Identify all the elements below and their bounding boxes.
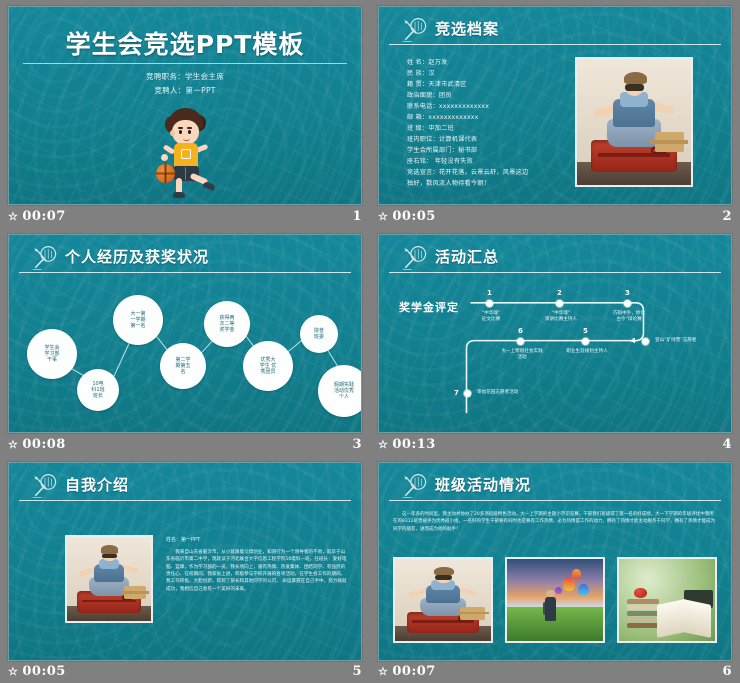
timeline-node xyxy=(486,300,493,307)
star-icon: ☆ xyxy=(8,439,18,450)
experience-bubble-label: 10电 科1班 班长 xyxy=(91,381,104,400)
timeline-node-number: 3 xyxy=(625,289,630,297)
intro-body: 我来自山东省临沂市，从小就跟着父母创业，知道行为一个领导者的不易，就毕于山东省临… xyxy=(166,549,347,593)
slide-cell-3[interactable]: 个人经历及获奖状况 学生会 学习部 干事10电 科1班 班长大一第 一学期 第一… xyxy=(0,228,370,456)
page-title: 活动汇总 xyxy=(435,246,499,267)
page-title: 竞选档案 xyxy=(435,18,499,39)
timeline-node xyxy=(517,338,524,345)
slide-number: 2 xyxy=(722,209,732,224)
experience-bubble-label: 院普 班委 xyxy=(314,328,324,341)
experience-bubble: 大一第 一学期 第一名 xyxy=(113,295,163,345)
timeline-node xyxy=(582,338,589,345)
timeline-node-number: 4 xyxy=(631,337,636,345)
class-activity-body: 这一年多的时间里，我主动并协办了20多项班级特色活动。大一上学期的主题小学识竞赛… xyxy=(393,511,717,533)
timeline-node-label: 大一上寒假社会实践 活动 xyxy=(482,349,562,361)
slide-duration: 00:08 xyxy=(22,437,65,452)
activity-timeline: 奖学金评定 1“中华魂” 征文比赛2“中华魂” 演讲比赛主持人3巧辩中外，妙论 … xyxy=(379,277,731,412)
magnifier-pen-icon xyxy=(31,473,59,499)
experience-bubble: 学生会 学习部 干事 xyxy=(27,329,77,379)
experience-bubble: 优秀大 学生 优 秀团员 xyxy=(243,341,293,391)
experience-bubble: 获得两 次二等 奖学金 xyxy=(204,301,250,347)
star-icon: ☆ xyxy=(378,439,388,450)
timeline-node-number: 6 xyxy=(518,327,523,335)
slide-footer-2: ☆ 00:05 2 xyxy=(378,206,732,226)
timeline-node-label: 巧辩中外，妙论 古今“辩论赛 xyxy=(593,311,665,323)
experience-bubble: 第二学 期第五 名 xyxy=(160,343,206,389)
slide-cell-6[interactable]: 班级活动情况 这一年多的时间里，我主动并协办了20多项班级特色活动。大一上学期的… xyxy=(370,456,740,683)
slide-preview-grid: 学生会竞选PPT模板 竞聘职务：学生会主席 竞聘人：第一PPT ☆ xyxy=(0,0,740,683)
title-divider xyxy=(23,63,347,64)
title-divider xyxy=(19,500,351,501)
slide-footer-6: ☆ 00:07 6 xyxy=(378,661,732,681)
timeline-node xyxy=(464,390,471,397)
timeline-node-number: 1 xyxy=(487,289,492,297)
slide-number: 6 xyxy=(722,664,732,679)
magnifier-pen-icon xyxy=(401,473,429,499)
page-title: 班级活动情况 xyxy=(435,474,531,495)
slide-number: 3 xyxy=(352,437,362,452)
star-icon: ☆ xyxy=(378,211,388,222)
girl-suitcase-photo xyxy=(393,557,493,643)
cover-subtitle-line-2: 竞聘人：第一PPT xyxy=(9,84,361,98)
girl-suitcase-photo xyxy=(575,57,693,187)
slide-3-experience[interactable]: 个人经历及获奖状况 学生会 学习部 干事10电 科1班 班长大一第 一学期 第一… xyxy=(8,234,362,433)
timeline-node-number: 7 xyxy=(454,389,459,397)
cover-subtitle: 竞聘职务：学生会主席 竞聘人：第一PPT xyxy=(9,70,361,98)
title-divider xyxy=(389,272,721,273)
timeline-node-label: 登山“矿绿营”志愿者 xyxy=(655,338,731,344)
timeline-node xyxy=(624,300,631,307)
girl-suitcase-photo xyxy=(65,535,153,623)
slide-number: 4 xyxy=(722,437,732,452)
experience-bubble: 院普 班委 xyxy=(300,315,338,353)
timeline-node-label: “中华魂” 征文比赛 xyxy=(461,311,521,323)
slide-duration: 00:05 xyxy=(392,209,435,224)
magnifier-pen-icon xyxy=(401,17,429,43)
self-intro-block: 姓名：第一PPT 我来自山东省临沂市，从小就跟着父母创业，知道行为一个领导者的不… xyxy=(166,536,347,593)
page-title: 自我介绍 xyxy=(65,474,129,495)
profile-details: 姓 名：赵万发 民 族：汉 籍 贯：天津市武清区 政治面貌：团员 联系电话：xx… xyxy=(407,57,528,189)
star-icon: ☆ xyxy=(378,666,388,677)
slide-footer-4: ☆ 00:13 4 xyxy=(378,434,732,454)
experience-bubble-chain: 学生会 学习部 干事10电 科1班 班长大一第 一学期 第一名第二学 期第五 名… xyxy=(15,277,355,412)
intro-name-line: 姓名：第一PPT xyxy=(166,536,347,544)
page-title: 学生会竞选PPT模板 xyxy=(9,25,361,61)
slide-footer-3: ☆ 00:08 3 xyxy=(8,434,362,454)
title-divider xyxy=(389,500,721,501)
slide-number: 1 xyxy=(352,209,362,224)
page-title: 个人经历及获奖状况 xyxy=(65,246,209,267)
experience-bubble-label: 假期实践 活动优秀 个人 xyxy=(334,382,354,401)
slide-duration: 00:05 xyxy=(22,664,65,679)
experience-bubble-label: 获得两 次二等 奖学金 xyxy=(219,315,234,334)
experience-bubble-label: 大一第 一学期 第一名 xyxy=(130,311,145,330)
slide-2-profile[interactable]: 竞选档案 姓 名：赵万发 民 族：汉 籍 贯：天津市武清区 政治面貌：团员 联系… xyxy=(378,6,732,205)
title-divider xyxy=(389,44,721,45)
slide-1-cover[interactable]: 学生会竞选PPT模板 竞聘职务：学生会主席 竞聘人：第一PPT xyxy=(8,6,362,205)
cover-subtitle-line-1: 竞聘职务：学生会主席 xyxy=(9,70,361,84)
timeline-node-number: 5 xyxy=(583,327,588,335)
timeline-node-label: 幸福花园志愿者活动 xyxy=(477,390,553,396)
slide-footer-5: ☆ 00:05 5 xyxy=(8,661,362,681)
title-divider xyxy=(19,272,351,273)
slide-4-activity-summary[interactable]: 活动汇总 奖学金评定 1“中华魂” 征文比赛2“中华魂” 演讲比赛主持人3巧辩中… xyxy=(378,234,732,433)
star-icon: ☆ xyxy=(8,211,18,222)
star-icon: ☆ xyxy=(8,666,18,677)
timeline-node-number: 2 xyxy=(557,289,562,297)
timeline-node-label: “中华魂” 演讲比赛主持人 xyxy=(525,311,597,323)
basketball-boy-illustration xyxy=(143,102,227,198)
timeline-node xyxy=(642,338,649,345)
slide-cell-2[interactable]: 竞选档案 姓 名：赵万发 民 族：汉 籍 贯：天津市武清区 政治面貌：团员 联系… xyxy=(370,0,740,228)
magnifier-pen-icon xyxy=(31,245,59,271)
slide-cell-5[interactable]: 自我介绍 姓名：第一PPT 我来自山东省临沂市，从小就跟着父母创业，知道行为一个… xyxy=(0,456,370,683)
timeline-path xyxy=(379,277,731,413)
slide-6-class-activities[interactable]: 班级活动情况 这一年多的时间里，我主动并协办了20多项班级特色活动。大一上学期的… xyxy=(378,462,732,661)
slide-duration: 00:07 xyxy=(22,209,65,224)
experience-bubble-label: 第二学 期第五 名 xyxy=(175,357,190,376)
books-apple-photo xyxy=(617,557,717,643)
slide-footer-1: ☆ 00:07 1 xyxy=(8,206,362,226)
slide-cell-4[interactable]: 活动汇总 奖学金评定 1“中华魂” 征文比赛2“中华魂” 演讲比赛主持人3巧辩中… xyxy=(370,228,740,456)
experience-bubble-label: 学生会 学习部 干事 xyxy=(44,345,59,364)
boy-balloons-photo xyxy=(505,557,605,643)
slide-cell-1[interactable]: 学生会竞选PPT模板 竞聘职务：学生会主席 竞聘人：第一PPT ☆ xyxy=(0,0,370,228)
slide-duration: 00:07 xyxy=(392,664,435,679)
slide-number: 5 xyxy=(352,664,362,679)
experience-bubble: 假期实践 活动优秀 个人 xyxy=(318,365,362,417)
slide-5-self-introduction[interactable]: 自我介绍 姓名：第一PPT 我来自山东省临沂市，从小就跟着父母创业，知道行为一个… xyxy=(8,462,362,661)
timeline-node xyxy=(556,300,563,307)
experience-bubble-label: 优秀大 学生 优 秀团员 xyxy=(260,357,277,376)
experience-bubble: 10电 科1班 班长 xyxy=(77,369,119,411)
class-activity-photos xyxy=(393,557,717,643)
magnifier-pen-icon xyxy=(401,245,429,271)
slide-duration: 00:13 xyxy=(392,437,435,452)
